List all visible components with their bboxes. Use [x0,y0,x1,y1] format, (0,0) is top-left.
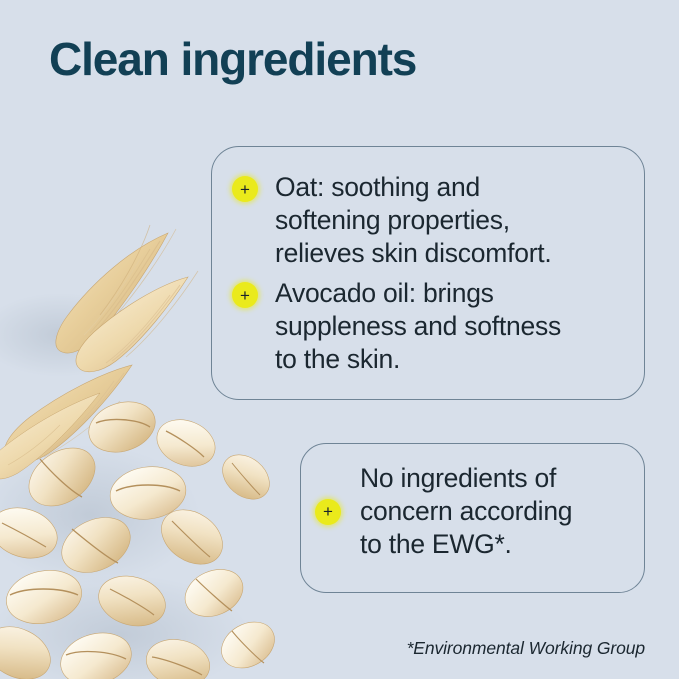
list-item-oat: + Oat: soothing and softening properties… [232,171,552,270]
plus-badge-icon: + [315,499,341,525]
list-item-ewg: + No ingredients of concern according to… [315,462,572,561]
plus-badge-icon: + [232,282,258,308]
ewg-card: + No ingredients of concern according to… [300,443,645,593]
list-item-label: Oat: soothing and softening properties, … [275,171,552,270]
list-item-avocado-oil: + Avocado oil: brings suppleness and sof… [232,277,561,376]
ingredients-card: + Oat: soothing and softening properties… [211,146,645,400]
list-item-label: Avocado oil: brings suppleness and softn… [275,277,561,376]
list-item-label: No ingredients of concern according to t… [360,462,572,561]
plus-badge-icon: + [232,176,258,202]
footnote: *Environmental Working Group [407,636,645,660]
page-title: Clean ingredients [49,30,416,88]
product-infographic: Clean ingredients + Oat: soothing and so… [0,0,679,679]
